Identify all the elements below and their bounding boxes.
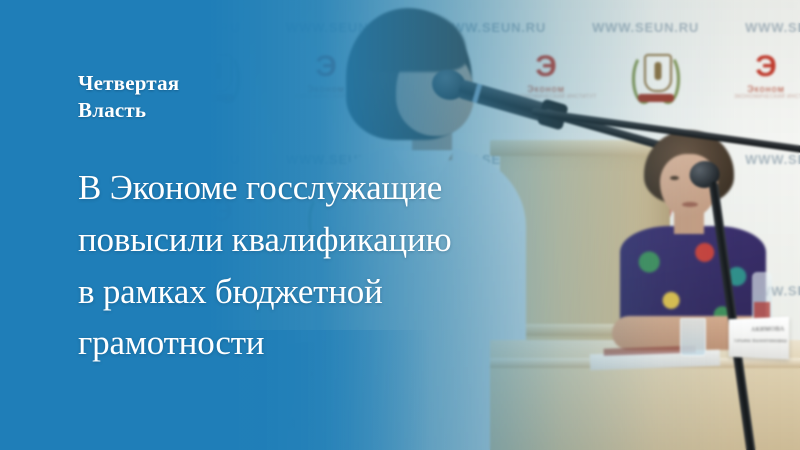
publication-logo[interactable]: Четвертая Власть: [78, 70, 179, 124]
headline-line: повысили квалификацию: [78, 214, 718, 266]
press-wall-url: WWW.SEUN.RU: [0, 152, 87, 167]
press-wall-url: WWW.SEUN.RU: [745, 20, 800, 35]
university-crest-icon: [190, 48, 242, 104]
name-placard: АКИМОВА Татьяна Валентиновна: [729, 317, 789, 360]
headline-line: в рамках бюджетной: [78, 266, 718, 318]
name-placard-patronymic: Татьяна Валентиновна: [734, 339, 787, 344]
article-headline[interactable]: В Экономе госслужащие повысили квалифика…: [78, 162, 718, 369]
ekonom-logo-glyph: Э: [0, 197, 34, 227]
university-crest-icon: [0, 330, 22, 386]
press-wall-url: WWW.SEUN.RU: [0, 296, 87, 313]
publication-logo-line1: Четвертая: [78, 70, 179, 97]
ekonom-logo-word: Эконом: [74, 369, 138, 379]
name-placard-surname: АКИМОВА: [751, 326, 785, 333]
ekonom-logo-glyph: Э: [734, 52, 798, 82]
headline-line: грамотности: [78, 317, 718, 369]
press-wall-url: WWW.SEUN.RU: [592, 20, 699, 35]
ekonom-logo-subtitle: ЭКОНОМИЧЕСКИЙ ИНСТИТУТ: [734, 94, 798, 100]
headline-line: В Экономе госслужащие: [78, 162, 718, 214]
ekonom-logo-icon: Э Эконом ЭКОНОМИЧЕСКИЙ ИНСТИТУТ: [734, 52, 798, 100]
news-card: WWW.SEUN.RU WWW.SEUN.RU WWW.SEUN.RU WWW.…: [0, 0, 800, 450]
ekonom-logo-word: Эконом: [0, 229, 34, 239]
ekonom-logo-icon: Э Эконом: [0, 197, 34, 239]
publication-logo-line2: Власть: [78, 97, 179, 124]
press-wall-url: WWW.SEUN.RU: [0, 20, 87, 35]
ekonom-logo-word: Эконом: [734, 84, 798, 94]
press-wall-url: WWW.SEUN.RU: [133, 20, 240, 35]
university-crest-icon: [630, 48, 682, 104]
university-crest-icon: [0, 48, 22, 104]
